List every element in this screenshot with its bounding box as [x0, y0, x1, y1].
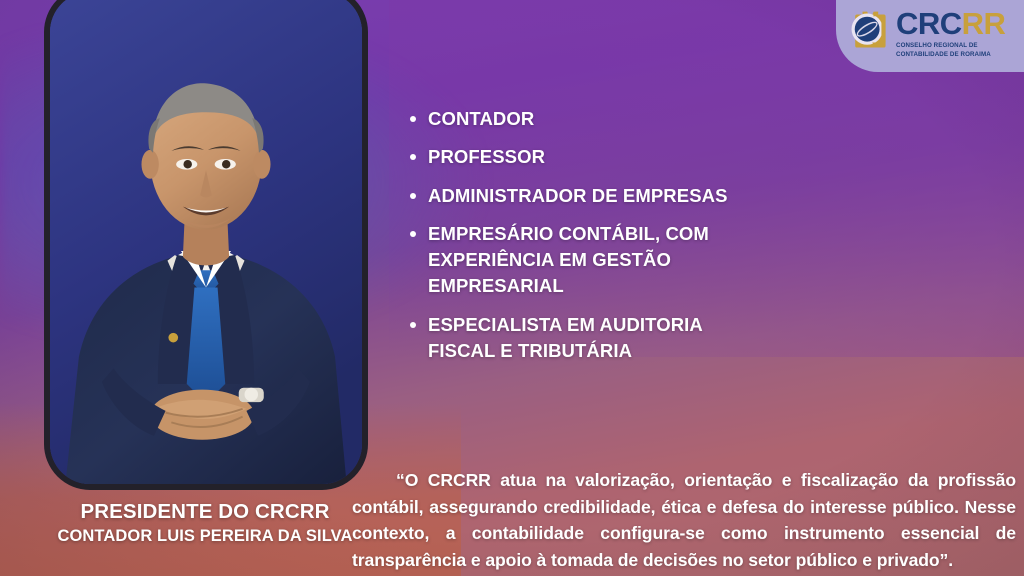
caption-title: PRESIDENTE DO CRCRR: [30, 500, 380, 524]
slide-canvas: CRCRR CONSELHO REGIONAL DE CONTABILIDADE…: [0, 0, 1024, 576]
credentials-list: CONTADORPROFESSORADMINISTRADOR DE EMPRES…: [404, 106, 734, 376]
crc-logo-subtitle: CONSELHO REGIONAL DE CONTABILIDADE DE RO…: [896, 41, 1014, 60]
president-caption: PRESIDENTE DO CRCRR CONTADOR LUIS PEREIR…: [30, 500, 380, 547]
crc-logo-text: CRCRR CONSELHO REGIONAL DE CONTABILIDADE…: [896, 6, 1014, 60]
credential-item: ADMINISTRADOR DE EMPRESAS: [404, 183, 734, 209]
president-portrait-image: [50, 0, 362, 484]
president-photo-frame: [44, 0, 368, 490]
credential-item: ESPECIALISTA EM AUDITORIA FISCAL E TRIBU…: [404, 312, 734, 365]
crc-logo-panel: CRCRR CONSELHO REGIONAL DE CONTABILIDADE…: [836, 0, 1024, 72]
crc-gear-globe-emblem: [846, 8, 892, 54]
crc-logo-wordmark: CRCRR: [896, 8, 1014, 39]
credential-item: EMPRESÁRIO CONTÁBIL, COM EXPERIÊNCIA EM …: [404, 221, 734, 300]
institutional-quote: “O CRCRR atua na valorização, orientação…: [352, 467, 1016, 575]
crc-logo-word-secondary: RR: [962, 6, 1006, 41]
caption-subtitle: CONTADOR LUIS PEREIRA DA SILVA: [30, 526, 380, 547]
credential-item: CONTADOR: [404, 106, 734, 132]
crc-logo-subtitle-line2: DE RORAIMA: [950, 51, 991, 58]
crc-logo-word-primary: CRC: [896, 6, 962, 41]
credential-item: PROFESSOR: [404, 144, 734, 170]
